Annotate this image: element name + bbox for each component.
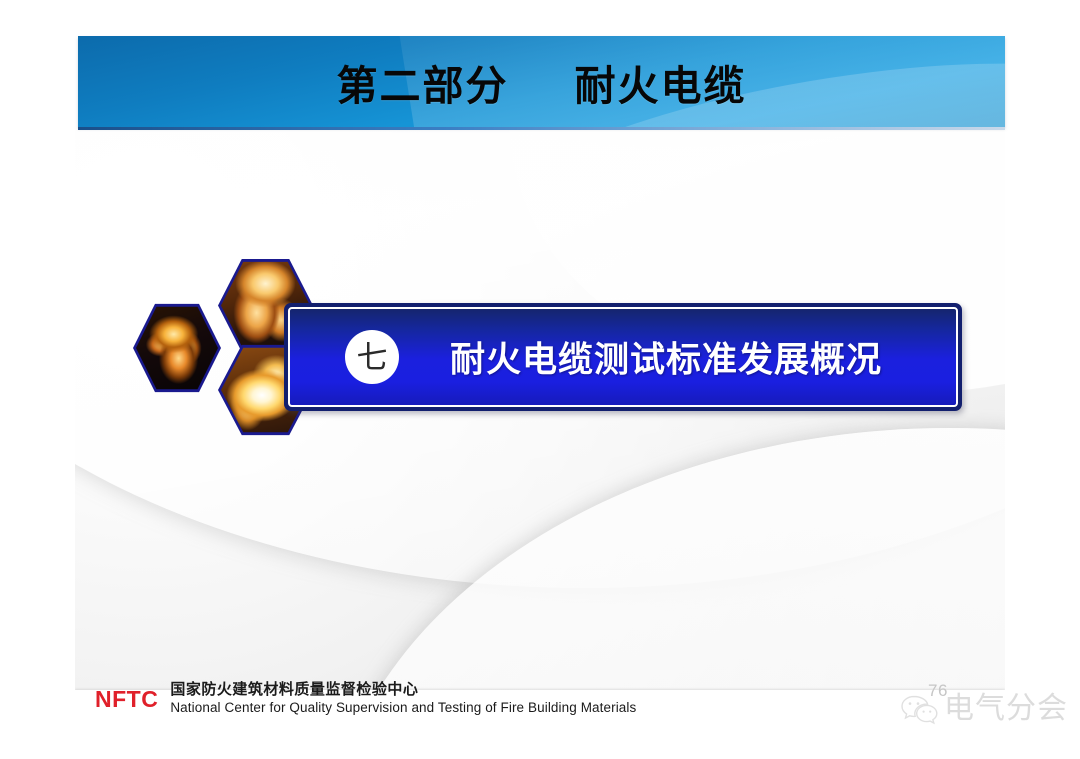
flame-image-dark [136, 305, 218, 391]
footer-org-block: 国家防火建筑材料质量监督检验中心 National Center for Qua… [170, 681, 636, 717]
header-underline [78, 127, 1005, 130]
slide-header-band: 第二部分 耐火电缆 [78, 36, 1005, 127]
wechat-watermark: 电气分会 [900, 692, 1068, 726]
wechat-icon [900, 692, 940, 726]
footer: NFTC 国家防火建筑材料质量监督检验中心 National Center fo… [95, 681, 636, 717]
nftc-logo: NFTC [95, 688, 158, 711]
section-title-banner: 七 耐火电缆测试标准发展概况 [284, 303, 962, 411]
section-number-label: 七 [357, 342, 388, 373]
flame-photo-left-image [136, 305, 218, 391]
header-topic-label: 耐火电缆 [575, 52, 747, 112]
footer-org-cn: 国家防火建筑材料质量监督检验中心 [170, 681, 636, 700]
section-title-text: 耐火电缆测试标准发展概况 [450, 332, 882, 383]
section-title-banner-inner: 七 耐火电缆测试标准发展概况 [288, 307, 958, 407]
slide-background [75, 128, 1005, 728]
header-part-label: 第二部分 [337, 52, 509, 112]
section-number-badge: 七 [345, 330, 399, 384]
wechat-watermark-text: 电气分会 [944, 694, 1068, 724]
slide-canvas: 第二部分 耐火电缆 七 耐火电缆测试标准发展概况 NFTC 国家防火建筑材料 [0, 0, 1080, 759]
footer-org-en: National Center for Quality Supervision … [170, 700, 636, 717]
header-title: 第二部分 耐火电缆 [78, 36, 1005, 127]
